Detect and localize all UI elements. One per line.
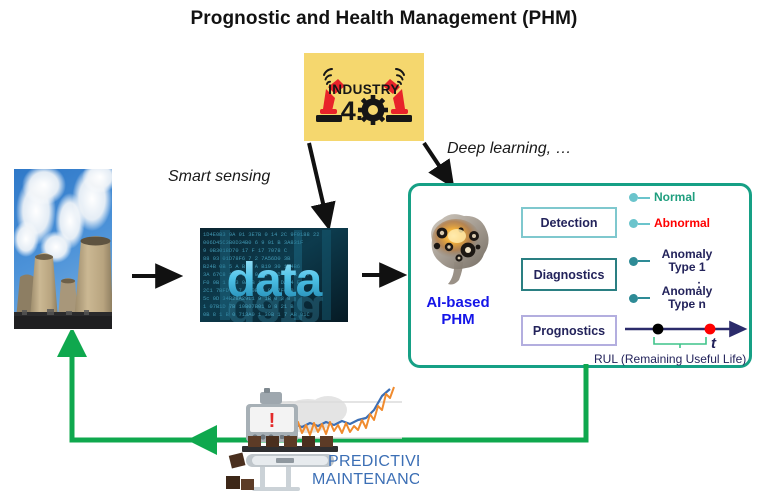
ai-label-line2: PHM	[441, 311, 474, 328]
legend-label-anomaly-n-line2: Type n	[668, 297, 706, 311]
legend-line-anomaly-1	[638, 260, 650, 262]
ai-brain-icon	[418, 206, 496, 288]
legend-dot-anomaly-n	[629, 294, 638, 303]
smart-sensing-label: Smart sensing	[168, 168, 270, 186]
stage-box-detection[interactable]: Detection	[521, 207, 617, 238]
timeline-axis-label: t	[711, 335, 716, 352]
legend-label-abnormal: Abnormal	[654, 217, 710, 230]
stage-box-diagnostics[interactable]: Diagnostics	[521, 258, 617, 291]
legend-label-anomaly-1-line2: Type 1	[668, 260, 705, 274]
legend-dot-anomaly-1	[629, 257, 638, 266]
smart-sensing-arrow	[285, 140, 345, 235]
arrow-plant-to-data	[130, 263, 186, 289]
svg-text:INDUSTRY: INDUSTRY	[328, 82, 400, 97]
industry-4-0-badge: INDUSTRY 4.	[304, 53, 424, 141]
legend-line-abnormal	[638, 223, 650, 225]
svg-text:data: data	[227, 286, 323, 322]
legend-line-anomaly-n	[638, 297, 650, 299]
data-image: 1D4E0B3 9A 01 3E7B 0 14 2C 9F0188 22 006…	[200, 228, 348, 322]
pm-caption-line2: MAINTENANCE	[312, 471, 419, 488]
legend-item-normal: Normal	[629, 191, 695, 204]
legend-item-anomaly-type-1: Anomaly Type 1	[629, 248, 718, 274]
alert-exclamation-icon: !	[269, 410, 276, 432]
legend-label-anomaly-1-line1: Anomaly	[662, 247, 713, 261]
timeline-current-dot	[653, 324, 664, 335]
predictive-maintenance-image: ! PREDICTIVE MAINTENANCE	[224, 380, 419, 498]
legend-dot-normal	[629, 193, 638, 202]
ai-based-phm-label: AI-based PHM	[412, 294, 504, 328]
ai-label-line1: AI-based	[426, 294, 489, 311]
svg-text:006D45C3B0D34B0 6 9 01 B 3: 006D45C3B0D34B0 6 9 01 B 3A831F	[203, 240, 303, 246]
pm-caption-line1: PREDICTIVE	[328, 453, 419, 470]
rul-bracket	[653, 337, 707, 348]
arrow-data-to-phm	[360, 262, 410, 288]
arrow-maintenance-to-plant	[72, 344, 226, 440]
stage-label-detection: Detection	[541, 216, 598, 230]
legend-item-abnormal: Abnormal	[629, 217, 710, 230]
legend-label-normal: Normal	[654, 191, 695, 204]
power-plant-image	[14, 169, 112, 329]
industry-4-0-logo-icon: INDUSTRY 4.	[304, 53, 424, 141]
legend-line-normal	[638, 197, 650, 199]
page-title: Prognostic and Health Management (PHM)	[0, 8, 768, 30]
legend-dot-abnormal	[629, 219, 638, 228]
legend-item-anomaly-type-n: Anomaly Type n	[629, 285, 718, 311]
legend-label-anomaly-n-line1: Anomaly	[662, 284, 713, 298]
stage-label-diagnostics: Diagnostics	[534, 268, 605, 282]
timeline-failure-dot	[705, 324, 716, 335]
